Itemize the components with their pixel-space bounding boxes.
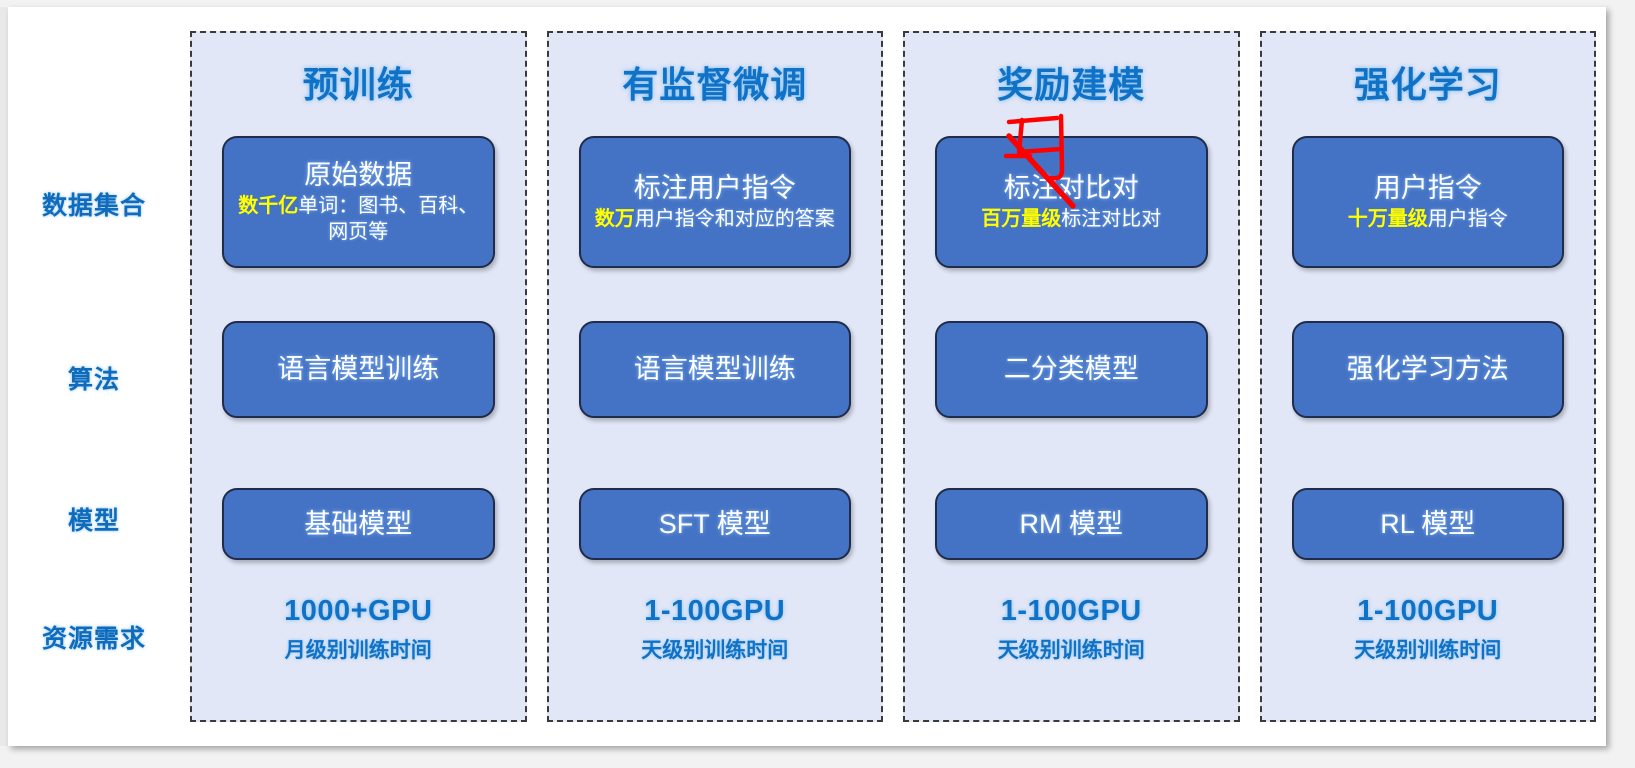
- model-card-title: 基础模型: [304, 508, 412, 540]
- stage-panel-sft: 有监督微调 标注用户指令 数万用户指令和对应的答案 语言模型训练 SFT 模型 …: [547, 31, 884, 722]
- resource-main: 1-100GPU: [1270, 595, 1587, 628]
- dataset-card: 用户指令 十万量级用户指令: [1292, 136, 1565, 268]
- algorithm-card-title: 语言模型训练: [634, 353, 796, 385]
- stage-panel-pretrain: 预训练 原始数据 数千亿单词：图书、百科、网页等 语言模型训练 基础模型 100…: [190, 31, 527, 722]
- dataset-card-title: 标注对比对: [1004, 172, 1139, 204]
- model-card-title: RL 模型: [1380, 508, 1475, 540]
- dataset-highlight: 百万量级: [981, 208, 1061, 230]
- dataset-card-title: 原始数据: [304, 159, 412, 191]
- pipeline-diagram: 数据集合 算法 模型 资源需求 预训练 原始数据 数千亿单词：图书、百科、网页等…: [8, 7, 1606, 746]
- dataset-rest: 标注对比对: [1061, 208, 1161, 230]
- resource-main: 1-100GPU: [913, 595, 1230, 628]
- dataset-rest: 用户指令和对应的答案: [635, 208, 835, 230]
- resource-block: 1-100GPU 天级别训练时间: [1270, 595, 1587, 664]
- resource-sub: 天级别训练时间: [557, 634, 874, 664]
- stage-title: 奖励建模: [905, 56, 1238, 108]
- resource-main: 1000+GPU: [200, 595, 517, 628]
- resource-sub: 月级别训练时间: [200, 634, 517, 664]
- model-card: SFT 模型: [579, 488, 852, 560]
- dataset-highlight: 数千亿: [238, 195, 298, 217]
- model-card: 基础模型: [222, 488, 495, 560]
- resource-sub: 天级别训练时间: [1270, 634, 1587, 664]
- model-card-title: RM 模型: [1020, 508, 1124, 540]
- row-label-resource: 资源需求: [8, 619, 180, 655]
- dataset-highlight: 数万: [595, 208, 635, 230]
- model-card: RM 模型: [935, 488, 1208, 560]
- stage-title: 有监督微调: [549, 56, 882, 108]
- dataset-rest: 用户指令: [1428, 208, 1508, 230]
- dataset-card-subtitle: 十万量级用户指令: [1340, 207, 1516, 233]
- page-left-gutter: [0, 7, 8, 746]
- dataset-card: 原始数据 数千亿单词：图书、百科、网页等: [222, 136, 495, 268]
- dataset-card-title: 用户指令: [1374, 172, 1482, 204]
- dataset-card-subtitle: 数万用户指令和对应的答案: [587, 207, 843, 233]
- dataset-card-subtitle: 百万量级标注对比对: [973, 207, 1169, 233]
- row-label-dataset: 数据集合: [8, 186, 180, 222]
- resource-block: 1-100GPU 天级别训练时间: [557, 595, 874, 664]
- algorithm-card: 强化学习方法: [1292, 321, 1565, 418]
- resource-block: 1000+GPU 月级别训练时间: [200, 595, 517, 664]
- algorithm-card: 二分类模型: [935, 321, 1208, 418]
- dataset-card-title: 标注用户指令: [634, 172, 796, 204]
- resource-block: 1-100GPU 天级别训练时间: [913, 595, 1230, 664]
- dataset-highlight: 十万量级: [1348, 208, 1428, 230]
- model-card-title: SFT 模型: [659, 508, 771, 540]
- stage-title: 预训练: [192, 56, 525, 108]
- page-background: 数据集合 算法 模型 资源需求 预训练 原始数据 数千亿单词：图书、百科、网页等…: [0, 0, 1635, 768]
- algorithm-card-title: 强化学习方法: [1347, 353, 1509, 385]
- stage-title: 强化学习: [1262, 56, 1595, 108]
- algorithm-card: 语言模型训练: [222, 321, 495, 418]
- stage-panel-rl: 强化学习 用户指令 十万量级用户指令 强化学习方法 RL 模型 1-100GPU…: [1260, 31, 1597, 722]
- model-card: RL 模型: [1292, 488, 1565, 560]
- dataset-card: 标注用户指令 数万用户指令和对应的答案: [579, 136, 852, 268]
- row-label-model: 模型: [8, 501, 180, 537]
- algorithm-card-title: 二分类模型: [1004, 353, 1139, 385]
- algorithm-card-title: 语言模型训练: [277, 353, 439, 385]
- dataset-rest: 单词：图书、百科、网页等: [298, 195, 478, 243]
- algorithm-card: 语言模型训练: [579, 321, 852, 418]
- row-label-algorithm: 算法: [8, 360, 180, 396]
- row-label-column: 数据集合 算法 模型 资源需求: [8, 31, 180, 722]
- dataset-card: 标注对比对 百万量级标注对比对: [935, 136, 1208, 268]
- resource-main: 1-100GPU: [557, 595, 874, 628]
- resource-sub: 天级别训练时间: [913, 634, 1230, 664]
- dataset-card-subtitle: 数千亿单词：图书、百科、网页等: [224, 194, 493, 245]
- stage-panel-reward-model: 奖励建模 标注对比对 百万量级标注对比对 二分类模型 RM 模型 1-100GP…: [903, 31, 1240, 722]
